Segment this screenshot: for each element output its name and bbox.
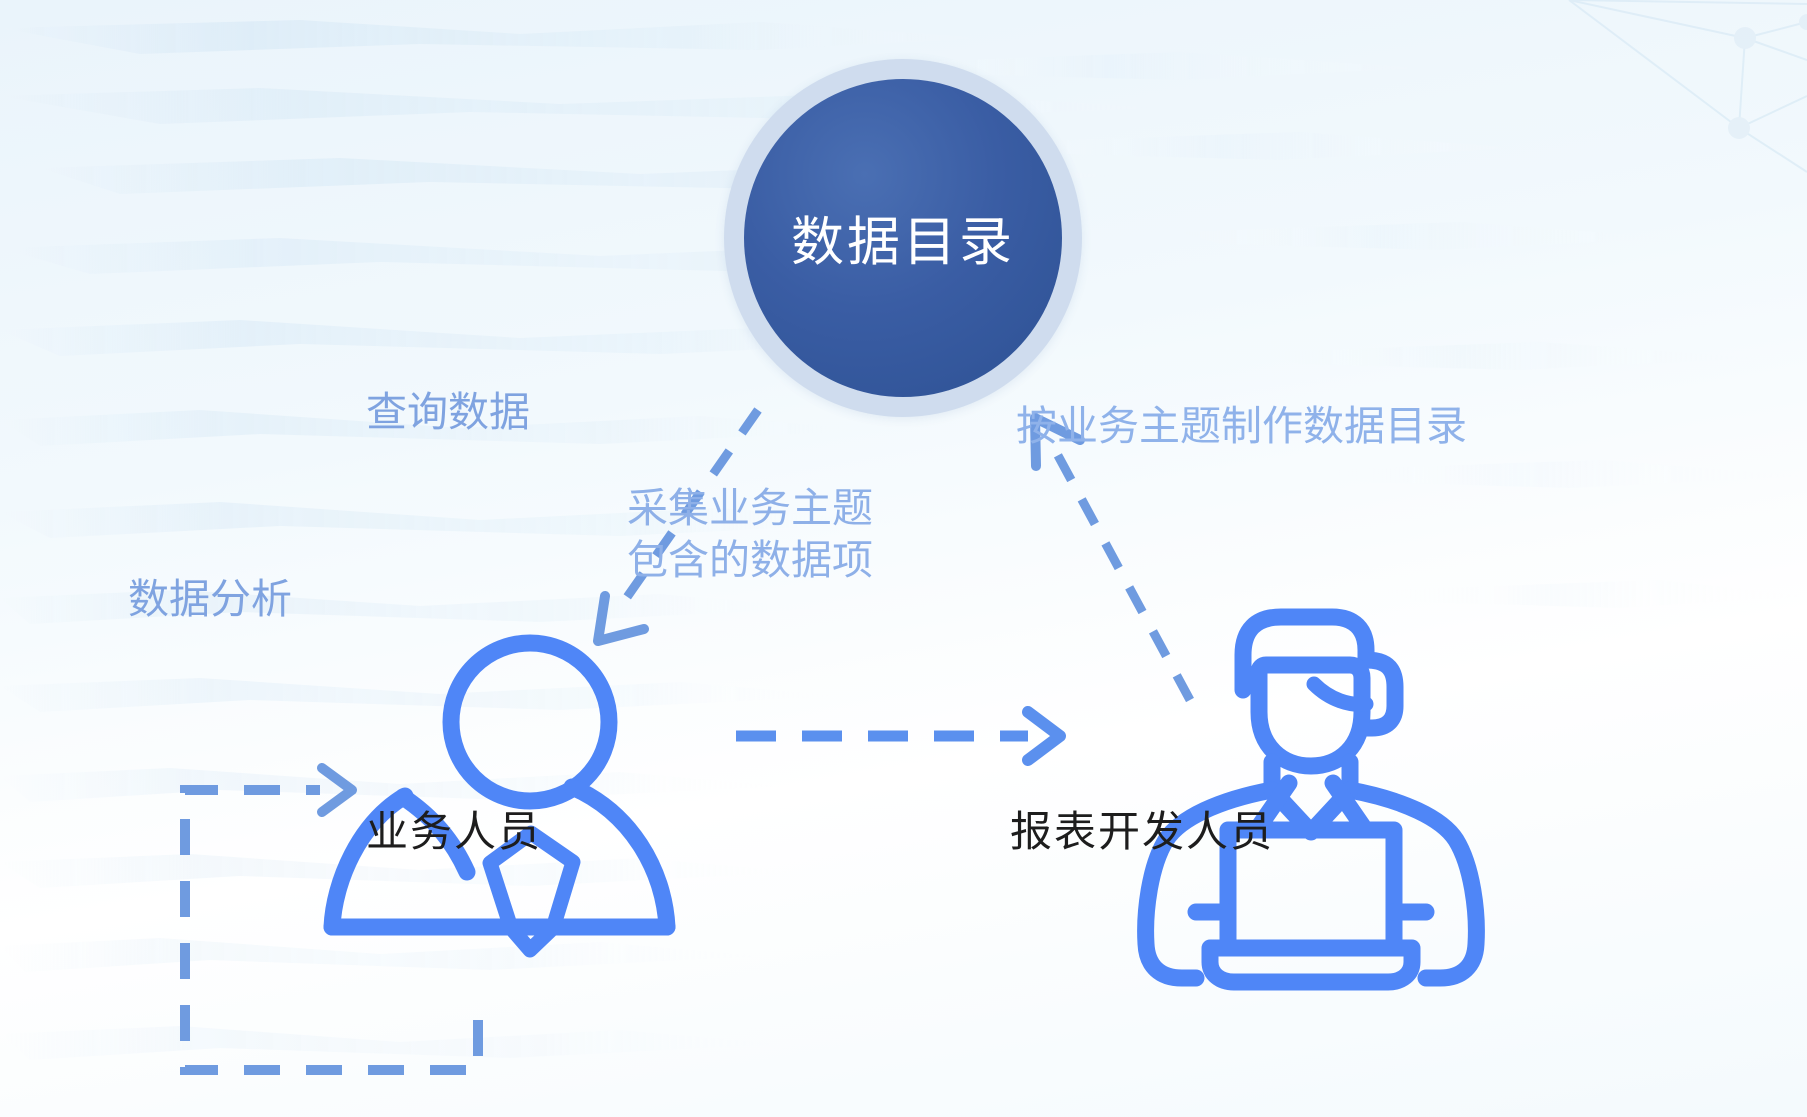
edge-label-collect-line1: 采集业务主题 (627, 482, 873, 534)
data-catalog-node-body: 数据目录 (744, 79, 1062, 397)
report-developer-laptop-icon (1146, 617, 1477, 982)
data-catalog-node[interactable]: 数据目录 (724, 59, 1082, 417)
edge-collect-arrow (736, 712, 1060, 760)
edge-label-collect-line2: 包含的数据项 (627, 534, 873, 586)
edge-label-analysis: 数据分析 (128, 573, 292, 625)
data-catalog-label: 数据目录 (791, 200, 1015, 276)
diagram-canvas: 数据目录 查询数据 按业务主题制作数据目录 采集业务主题 包含的数据项 数据分析… (0, 0, 1807, 1117)
business-person-icon (332, 643, 667, 950)
actor-label-business: 业务人员 (366, 805, 542, 859)
edge-label-query: 查询数据 (366, 386, 530, 438)
edge-label-collect: 采集业务主题 包含的数据项 (627, 482, 873, 587)
edge-make-catalog-arrow (1035, 418, 1190, 700)
edge-label-make-catalog: 按业务主题制作数据目录 (1016, 400, 1467, 452)
actor-label-developer: 报表开发人员 (1010, 805, 1274, 859)
